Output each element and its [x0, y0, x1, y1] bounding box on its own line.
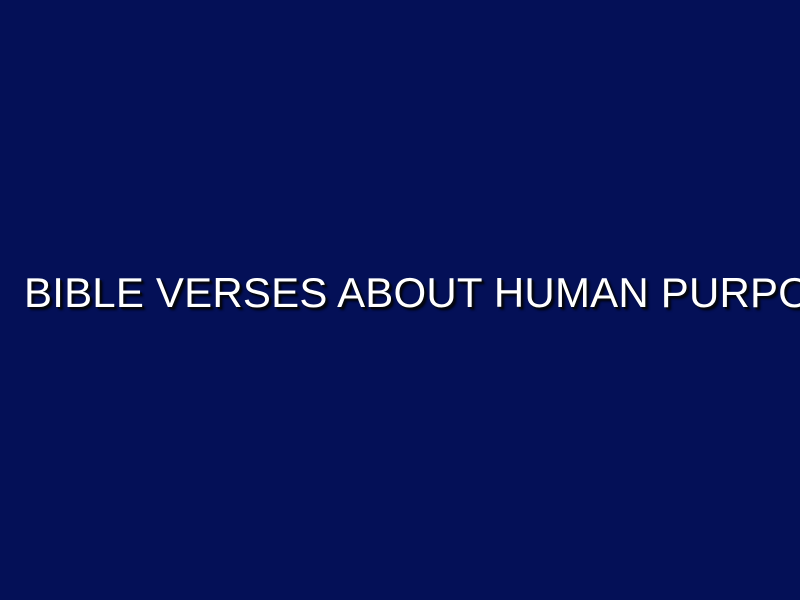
title-block: BIBLE VERSES ABOUT HUMAN PURPOSE [0, 271, 800, 315]
title-card-canvas: BIBLE VERSES ABOUT HUMAN PURPOSE [0, 0, 800, 600]
page-title: BIBLE VERSES ABOUT HUMAN PURPOSE [24, 271, 800, 315]
